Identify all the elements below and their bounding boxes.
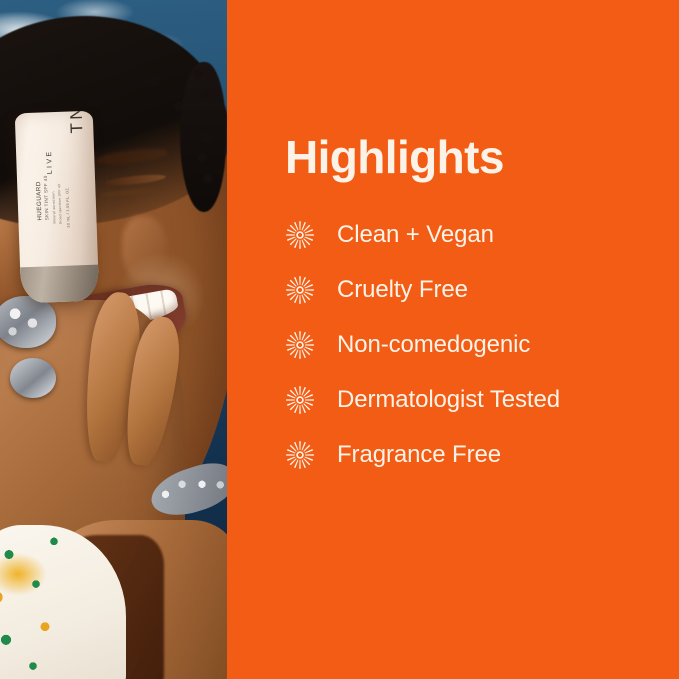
tube-product-line: HUEGUARD bbox=[35, 181, 43, 221]
list-item-label: Clean + Vegan bbox=[337, 222, 494, 248]
highlights-list: Clean + Vegan bbox=[285, 220, 645, 470]
page-title: Highlights bbox=[285, 134, 645, 180]
product-lifestyle-photo: TNTED LIVE HUEGUARD SKIN TINT SPF 40 min… bbox=[0, 0, 227, 679]
silver-ring-icon bbox=[0, 296, 56, 348]
tube-volume: 30 mL / 1.05 FL. OZ. bbox=[65, 187, 70, 228]
list-item: Cruelty Free bbox=[285, 275, 645, 305]
list-item-label: Dermatologist Tested bbox=[337, 387, 560, 413]
tube-brand-mark: TNTED bbox=[65, 111, 88, 134]
tube-cap bbox=[20, 265, 99, 304]
list-item-label: Fragrance Free bbox=[337, 442, 501, 468]
product-tube: TNTED LIVE HUEGUARD SKIN TINT SPF 40 min… bbox=[15, 111, 100, 304]
list-item: Dermatologist Tested bbox=[285, 385, 645, 415]
silver-ring-secondary-icon bbox=[10, 358, 56, 398]
list-item: Fragrance Free bbox=[285, 440, 645, 470]
list-item-label: Non-comedogenic bbox=[337, 332, 530, 358]
list-item: Non-comedogenic bbox=[285, 330, 645, 360]
tube-brand-prefix: LIVE bbox=[46, 149, 54, 174]
tube-claim-mineral: mineral sunscreen bbox=[51, 191, 56, 224]
sunburst-icon bbox=[285, 220, 315, 250]
tube-claim-broad-spectrum: broad spectrum SPF 40 bbox=[57, 184, 62, 224]
list-item-label: Cruelty Free bbox=[337, 277, 468, 303]
sunburst-icon bbox=[285, 330, 315, 360]
sunburst-icon bbox=[285, 385, 315, 415]
sunburst-icon bbox=[285, 275, 315, 305]
tube-claim-spf: SKIN TINT SPF 40 bbox=[43, 175, 50, 220]
highlights-banner: TNTED LIVE HUEGUARD SKIN TINT SPF 40 min… bbox=[0, 0, 679, 679]
highlights-panel: Highlights bbox=[227, 0, 679, 679]
list-item: Clean + Vegan bbox=[285, 220, 645, 250]
sunburst-icon bbox=[285, 440, 315, 470]
